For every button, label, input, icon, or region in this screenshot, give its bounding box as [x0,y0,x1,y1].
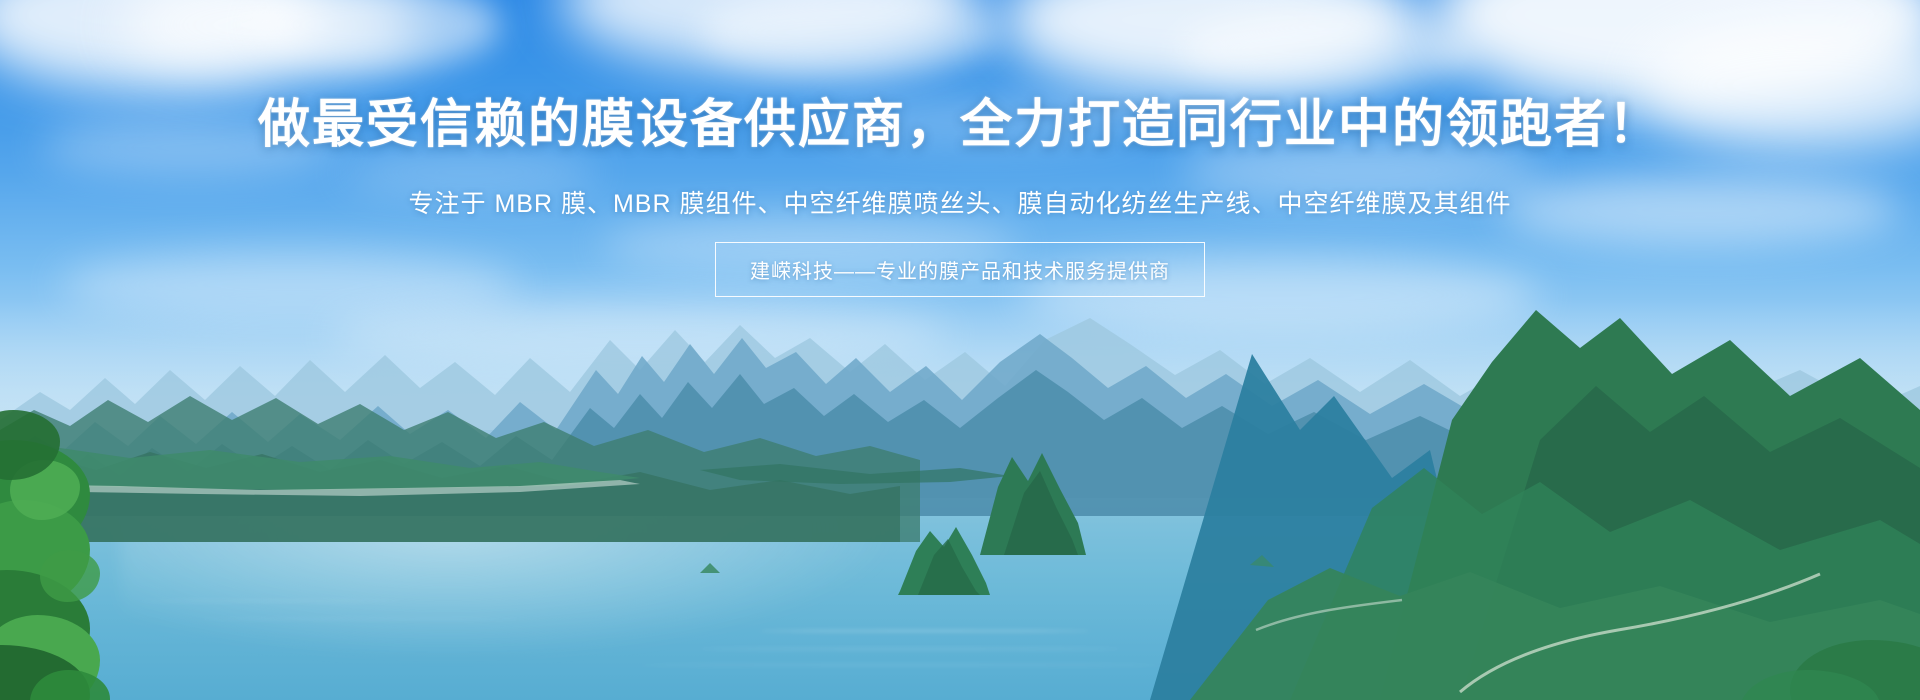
foreground-foliage [0,430,230,700]
banner-tagline-box[interactable]: 建嵘科技——专业的膜产品和技术服务提供商 [715,242,1205,297]
hero-banner: 做最受信赖的膜设备供应商，全力打造同行业中的领跑者！ 专注于 MBR 膜、MBR… [0,0,1920,700]
foreground-foliage-right [1700,600,1920,700]
island-group [0,415,1920,605]
